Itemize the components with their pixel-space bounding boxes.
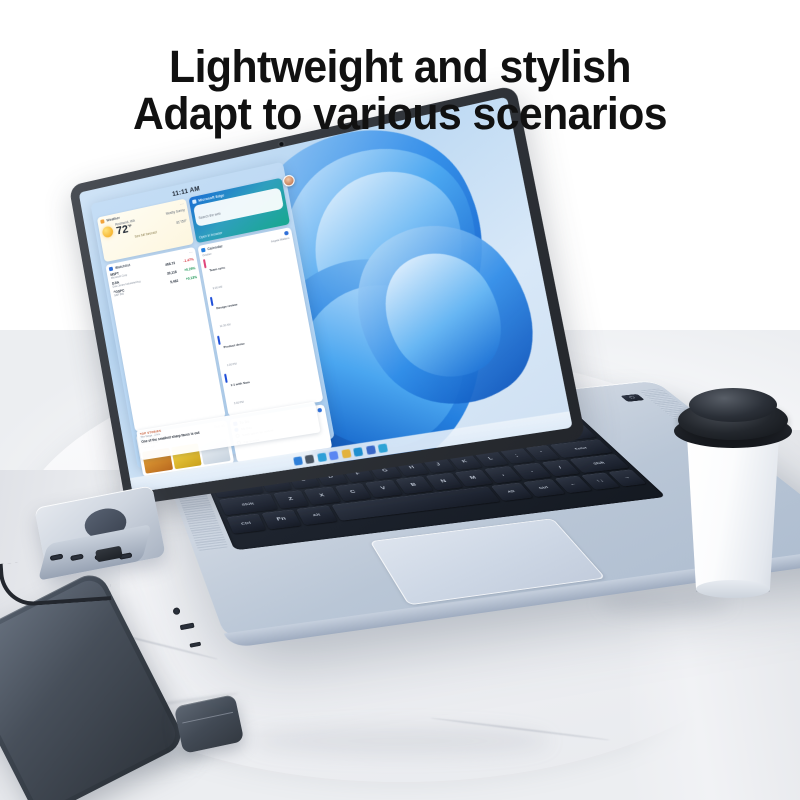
calendar-month: October [202, 252, 212, 257]
usb-c-port [190, 642, 202, 648]
edge-icon[interactable] [353, 447, 363, 457]
stock-change: +0.29% [178, 267, 195, 274]
edge-search-input[interactable]: Search the web [198, 212, 221, 221]
weather-more-button[interactable]: ··· [180, 202, 184, 207]
store-icon[interactable] [366, 445, 376, 455]
event-time: 3:30 PM [234, 401, 244, 406]
event-color-bar [224, 374, 227, 383]
chat-icon[interactable] [329, 450, 339, 460]
watchlist-more-button[interactable]: ··· [189, 250, 193, 255]
event-color-bar [210, 297, 213, 306]
stock-change: -1.47% [177, 258, 194, 265]
event-time: 1:00 PM [227, 362, 237, 367]
key-ctrl[interactable]: Ctrl [226, 514, 266, 534]
event-title: 1:1 with Sam [230, 380, 250, 387]
cup-body [687, 436, 779, 592]
explorer-icon[interactable] [341, 448, 351, 458]
widgets-icon[interactable] [317, 452, 327, 461]
key-z[interactable]: Z [273, 490, 309, 509]
laptop-screen[interactable]: 11:11 AM Weather ··· [79, 97, 573, 493]
calendar-icon [201, 248, 206, 253]
stock-name: S&P 500 [114, 292, 125, 297]
mail-icon[interactable] [378, 443, 388, 453]
key-alt[interactable]: Alt [297, 505, 338, 525]
webcam-icon [279, 141, 284, 146]
event-color-bar [217, 336, 220, 345]
weather-icon [100, 219, 104, 224]
headline-line-2: Adapt to various scenarios [20, 91, 780, 138]
event-color-bar [203, 259, 206, 268]
edge-icon [192, 199, 197, 204]
event-title: Team sync [209, 265, 226, 272]
avatar[interactable] [284, 231, 289, 236]
key-x[interactable]: X [304, 487, 341, 505]
event-title: Design review [216, 303, 238, 311]
lid-shell: 11:11 AM Weather ··· [69, 85, 586, 506]
stock-change: +0.13% [180, 275, 198, 282]
event-title: Product demo [223, 341, 245, 349]
audio-jack [172, 607, 180, 615]
start-icon[interactable] [293, 456, 303, 465]
watchlist-icon [109, 266, 114, 271]
stock-value: 468.73 [165, 261, 176, 267]
calendar-events: Team sync9:00 AMDesign review11:30 AMPro… [203, 242, 319, 411]
headline: Lightweight and stylish Adapt to various… [0, 44, 800, 138]
stock-value: 5,482 [170, 279, 179, 285]
headline-line-1: Lightweight and stylish [20, 44, 780, 91]
avatar[interactable] [317, 408, 322, 413]
key-fn[interactable]: Fn [262, 509, 302, 529]
watchlist-rows: MSFTMicrosoft Corp468.73-1.47%DJIADow Jo… [110, 256, 198, 297]
event-time: 9:00 AM [212, 285, 222, 290]
event-time: 11:30 AM [220, 324, 231, 329]
sun-icon [102, 225, 114, 238]
cup-lid-top [689, 388, 777, 422]
search-icon[interactable] [305, 454, 315, 463]
stock-value: 39,118 [167, 270, 177, 276]
coffee-cup[interactable] [678, 378, 788, 600]
usb-a-port [180, 623, 195, 631]
cup-base [696, 580, 770, 598]
laptop-lid: 11:11 AM Weather ··· [69, 85, 586, 506]
